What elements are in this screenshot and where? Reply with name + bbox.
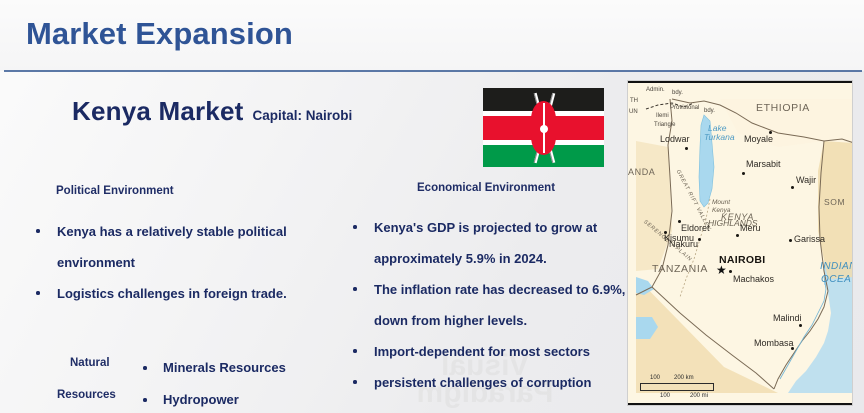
bullet-dot-icon: [353, 380, 357, 384]
bullet-text-continued: environment: [57, 247, 328, 278]
map-city-dot-meru: [736, 234, 739, 237]
flag-shield-center-dot: [540, 125, 548, 133]
map-city-dot-malindi: [799, 324, 802, 327]
map-label-th: TH: [630, 98, 638, 104]
map-country-tanzania: TANZANIA: [652, 263, 708, 275]
map-city-dot-kisumu: [664, 231, 667, 234]
bullet-text: Minerals Resources: [163, 360, 286, 375]
list-item: Import-dependent for most sectors: [345, 336, 635, 367]
map-scale-bar-mi: [640, 387, 714, 391]
map-label-bdy-2: bdy.: [704, 108, 715, 114]
map-scale-mi-200: 200 mi: [690, 393, 708, 399]
map-city-malindi: Malindi: [773, 313, 802, 323]
map-scale-km-100: 100: [650, 375, 660, 381]
map-label-admin: Admin.: [646, 87, 665, 93]
political-environment-heading: Political Environment: [56, 185, 174, 197]
kenya-map-image: Admin. bdy. Provisional bdy. Ilemi Trian…: [627, 80, 853, 406]
map-city-machakos: Machakos: [733, 274, 774, 284]
bullet-text: Kenya has a relatively stable political: [57, 224, 287, 239]
bullet-dot-icon: [36, 291, 40, 295]
map-country-ethiopia: ETHIOPIA: [756, 102, 810, 114]
map-region-mount-kenya-1: Mount: [712, 199, 730, 206]
political-bullet-list: Kenya has a relatively stable political …: [28, 216, 328, 309]
bullet-dot-icon: [353, 225, 357, 229]
map-label-triangle: Triangle: [654, 122, 675, 128]
map-city-dot-garissa: [789, 239, 792, 242]
map-city-dot-mombasa: [791, 347, 794, 350]
subtitle-row: Kenya Market Capital: Nairobi: [72, 96, 352, 127]
bullet-text: The inflation rate has decreased to 6.9%…: [374, 282, 625, 297]
map-city-dot-nakuru: [698, 238, 701, 241]
map-city-meru: Meru: [740, 223, 761, 233]
kenya-flag-icon: [483, 88, 604, 167]
map-label-bdy-1: bdy.: [672, 90, 683, 96]
natural-resources-list: Minerals Resources Hydropower: [130, 352, 340, 413]
economical-bullet-list: Kenya's GDP is projected to grow at appr…: [345, 212, 635, 398]
bullet-dot-icon: [353, 349, 357, 353]
natural-resources-label-line2: Resources: [57, 389, 116, 401]
map-label-provisional: Provisional: [670, 105, 699, 111]
map-water-lake-turkana-2: Turkana: [704, 132, 735, 142]
map-capital-star-icon: ★: [716, 264, 727, 276]
map-city-eldoret: Eldoret: [681, 223, 710, 233]
map-city-lodwar: Lodwar: [660, 134, 690, 144]
list-item: The inflation rate has decreased to 6.9%…: [345, 274, 635, 336]
list-item: Hydropower: [130, 384, 340, 413]
map-water-indian: INDIAN: [820, 261, 853, 272]
map-scale-km-200: 200 km: [674, 375, 694, 381]
map-country-somalia: SOM: [824, 197, 845, 207]
map-scale-bar: 100 200 km 100 200 mi: [640, 383, 714, 391]
slide-header: Market Expansion: [0, 0, 864, 71]
bullet-text-continued: down from higher levels.: [374, 305, 635, 336]
bullet-text: persistent challenges of corruption: [374, 375, 591, 390]
bullet-dot-icon: [143, 366, 147, 370]
header-divider: [4, 70, 862, 72]
list-item: persistent challenges of corruption: [345, 367, 635, 398]
map-region-mount-kenya-2: Kenya: [712, 207, 730, 214]
list-item: Minerals Resources: [130, 352, 340, 384]
list-item: Kenya has a relatively stable political …: [28, 216, 328, 278]
natural-resources-label-line1: Natural: [70, 357, 110, 369]
map-country-uganda: ANDA: [628, 167, 655, 177]
map-city-dot-machakos: [729, 270, 732, 273]
slide: Market Expansion Kenya Market Capital: N…: [0, 0, 864, 413]
map-city-dot-moyale: [769, 131, 772, 134]
map-water-ocean: OCEA: [821, 274, 851, 285]
map-city-wajir: Wajir: [796, 175, 816, 185]
map-city-moyale: Moyale: [744, 134, 773, 144]
map-city-dot-lodwar: [685, 147, 688, 150]
page-title: Market Expansion: [26, 16, 293, 52]
map-scale-mi-100: 100: [660, 393, 670, 399]
map-city-dot-marsabit: [742, 172, 745, 175]
map-city-nakuru: Nakuru: [669, 239, 698, 249]
capital-label: Capital: Nairobi: [252, 108, 352, 123]
bullet-text: Import-dependent for most sectors: [374, 344, 590, 359]
bullet-text: Logistics challenges in foreign trade.: [57, 286, 287, 301]
map-label-un: UN: [629, 109, 638, 115]
map-city-dot-wajir: [791, 186, 794, 189]
map-city-garissa: Garissa: [794, 234, 825, 244]
bullet-dot-icon: [36, 229, 40, 233]
market-title: Kenya Market: [72, 96, 243, 127]
list-item: Logistics challenges in foreign trade.: [28, 278, 328, 309]
bullet-text: Kenya's GDP is projected to grow at: [374, 220, 597, 235]
map-city-marsabit: Marsabit: [746, 159, 781, 169]
bullet-dot-icon: [143, 398, 147, 402]
bullet-text: Hydropower: [163, 392, 239, 407]
economical-environment-heading: Economical Environment: [417, 182, 555, 194]
list-item: Kenya's GDP is projected to grow at appr…: [345, 212, 635, 274]
map-label-ilemi: Ilemi: [656, 113, 669, 119]
map-city-dot-eldoret: [678, 220, 681, 223]
bullet-text-continued: approximately 5.9% in 2024.: [374, 243, 635, 274]
bullet-dot-icon: [353, 287, 357, 291]
map-city-mombasa: Mombasa: [754, 338, 794, 348]
